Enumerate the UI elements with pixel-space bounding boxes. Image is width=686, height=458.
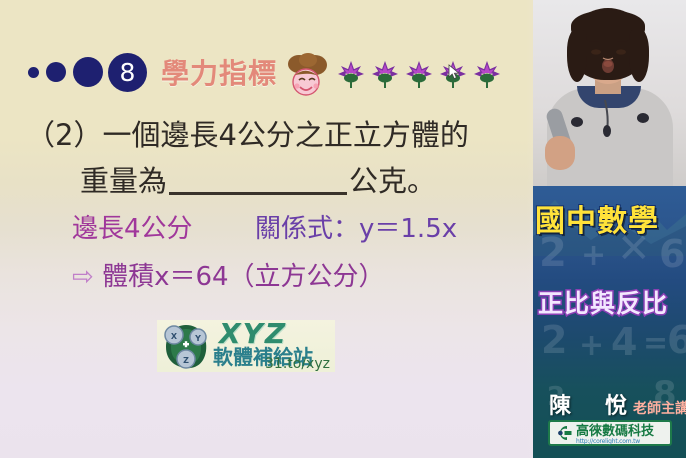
xyz-watermark: X Y Z XYZ 軟體補給站 31.to/xyz [157, 320, 335, 372]
question-prefix: 重量為 [80, 164, 167, 198]
question-suffix: 公克。 [349, 164, 436, 198]
screenshot-root: 8 學力指標 [0, 0, 686, 458]
presenter-video-panel[interactable]: 2 + ✕ 6 2 + 4 = 6 8 2 國中數學 正比與反比 陳 悅老師主講 [533, 0, 686, 458]
svg-text:X: X [171, 332, 178, 341]
question-text: 一個邊長4公分之正立方體的 [102, 118, 468, 152]
course-title: 國中數學 [535, 196, 686, 240]
flower-icon [473, 58, 501, 88]
presenter-video-frame [533, 0, 686, 186]
bullet-dot-small-icon [28, 67, 39, 78]
decorative-digit: 2 [541, 318, 567, 362]
answer-blank[interactable] [169, 167, 347, 195]
globe-xyz-icon: X Y Z [160, 321, 212, 371]
work-result: 體積x＝64（立方公分） [102, 262, 384, 292]
question-line-2: 重量為公克。 [80, 158, 436, 200]
question-line-1: （2）一個邊長4公分之正立方體的 [26, 112, 469, 154]
work-result-line: ⇨ 體積x＝64（立方公分） [72, 256, 385, 293]
decorative-digit: 6 [667, 318, 686, 362]
right-arrow-icon: ⇨ [72, 262, 94, 292]
section-title: 學力指標 [161, 52, 277, 92]
company-name: 高徠數碼科技 [576, 424, 654, 439]
company-url[interactable]: http://corelight.com.tw [576, 439, 654, 445]
flower-icon [337, 58, 365, 88]
bullet-dots-decoration [28, 57, 103, 87]
presenter-hand [545, 136, 575, 170]
teacher-role: 老師主講 [633, 401, 686, 417]
bullet-dot-large-icon [73, 57, 103, 87]
section-number-badge: 8 [108, 53, 147, 92]
decorative-digit: 4 [611, 320, 637, 364]
flower-icon [439, 58, 467, 88]
flower-icon [371, 58, 399, 88]
corelight-logo-icon [552, 424, 574, 442]
decorative-plus: + [579, 328, 604, 363]
teacher-credit: 陳 悅老師主講 [549, 388, 686, 420]
bullet-dot-medium-icon [46, 62, 66, 82]
svg-text:Y: Y [194, 334, 201, 343]
flower-icon [405, 58, 433, 88]
decorative-equals: = [643, 326, 668, 361]
decorative-plus: + [581, 238, 606, 273]
girl-face-icon [285, 52, 331, 98]
question-label: （2） [26, 118, 102, 152]
mouse-cursor-icon [448, 64, 460, 80]
teacher-name: 陳 悅 [549, 394, 633, 419]
slide-header: 8 學力指標 [28, 48, 277, 96]
svg-text:Z: Z [183, 356, 189, 365]
work-given: 邊長4公分 [72, 208, 193, 245]
lesson-title: 正比與反比 [538, 284, 686, 320]
company-logo-text: 高徠數碼科技 http://corelight.com.tw [576, 422, 654, 445]
watermark-url[interactable]: 31.to/xyz [265, 356, 330, 372]
flower-decoration-row [337, 58, 501, 88]
company-logo[interactable]: 高徠數碼科技 http://corelight.com.tw [548, 420, 672, 446]
work-relation: 關係式：y＝1.5x [255, 208, 457, 245]
